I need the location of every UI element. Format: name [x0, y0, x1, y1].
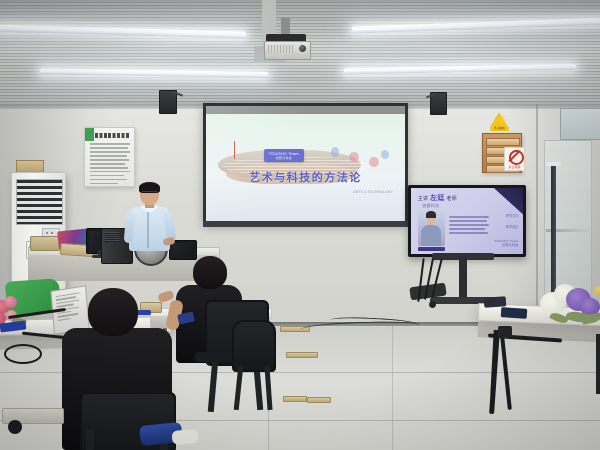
presenter-glasses-icon [142, 191, 157, 195]
projection-screen: TOUGHX Team 创意与科技 艺术与科技的方法论 ARTS & TECHN… [203, 103, 408, 224]
tv-stand-caster [429, 301, 436, 308]
chair-empty[interactable] [232, 320, 276, 372]
floor-cable-cover [283, 396, 307, 402]
wall-notice-board [84, 127, 135, 187]
slide-team-badge: TOUGHX Team 创意与科技 [264, 149, 304, 162]
chair-left-leg [86, 430, 94, 450]
flat-screen-tv: 主讲 左廷 老师 创意科技 研究方向 教学经历 TOUGHX Te [408, 185, 526, 257]
caster-wheel [8, 420, 22, 434]
tv-slide-bullet-list [449, 216, 489, 237]
projector-lens [299, 45, 306, 52]
electrical-hazard-warning-sign: ⚡ 当心触电 [490, 112, 509, 129]
tv-brand-sub: 创意与科技 [494, 243, 518, 247]
desk-cardboard-box [30, 236, 60, 251]
lightning-bolt-icon: ⚡ [497, 117, 507, 125]
slide-badge-subtitle: 创意与科技 [269, 156, 299, 160]
audience-right-head [193, 256, 227, 289]
notice-text-block [90, 143, 130, 187]
monitor-screen [172, 243, 194, 257]
slide-main-title: 艺术与科技的方法论 [206, 169, 405, 185]
dark-object-on-table [484, 296, 507, 308]
tv-screen-surface: 主讲 左廷 老师 创意科技 研究方向 教学经历 TOUGHX Te [411, 188, 523, 254]
notice-title-bar [95, 133, 129, 138]
projection-screen-bottom-bar [203, 221, 408, 227]
notice-corner-flag [85, 128, 94, 141]
slide-illustration-blob [369, 157, 379, 167]
coiled-cable [4, 344, 42, 364]
no-smoking-sign: 禁止吸烟 [504, 147, 525, 171]
smartphone[interactable] [501, 307, 528, 319]
door-handle-icon[interactable] [546, 162, 561, 166]
audience-left-head [88, 288, 138, 336]
floor-cable-cover [286, 352, 318, 358]
warning-sign-label: 当心触电 [490, 127, 509, 131]
slide-footnote: ARTS & TECHNOLOGY [353, 190, 393, 194]
tv-header-suffix: 老师 [446, 196, 457, 202]
tv-side-label: 教学经历 [506, 224, 519, 229]
pc-vent [105, 232, 119, 242]
ac-vent-grille [16, 179, 63, 225]
tv-slide-subtitle: 创意科技 [422, 203, 439, 209]
presenter-shirt-placket [147, 208, 149, 248]
tv-stand-pole [459, 256, 467, 300]
tv-slide-corner-graphic [494, 188, 523, 214]
no-smoking-label: 禁止吸烟 [505, 165, 524, 169]
lecture-room-photo: ⚡ 当心触电 禁止吸烟 TOUGHX Team 创意与科技 [0, 0, 600, 450]
tv-header-prefix: 主讲 [418, 196, 429, 202]
portrait-hair [426, 211, 436, 218]
speaker-portrait [418, 209, 445, 246]
slide-badge-title: TOUGHX Team [269, 151, 299, 156]
projection-screen-surface: TOUGHX Team 创意与科技 艺术与科技的方法论 ARTS & TECHN… [206, 106, 405, 221]
projector-vent [268, 45, 294, 53]
tv-brand-mark: TOUGHX Team 创意与科技 [494, 239, 518, 247]
tv-side-label: 研究方向 [506, 213, 519, 218]
slide-illustration-blob [331, 147, 339, 156]
right-table-leg [596, 334, 600, 394]
tv-header-name: 左廷 [430, 195, 445, 202]
floor-cable-cover [307, 397, 331, 403]
wall-window [560, 108, 600, 140]
white-shoe [172, 429, 199, 445]
slide-illustration-blob [381, 150, 389, 159]
white-and-purple-flower-bouquet [536, 282, 600, 330]
tripod-head [498, 326, 512, 338]
slide-illustration-marker [234, 141, 236, 159]
portrait-body [421, 225, 440, 246]
portrait-name-badge [418, 247, 445, 252]
